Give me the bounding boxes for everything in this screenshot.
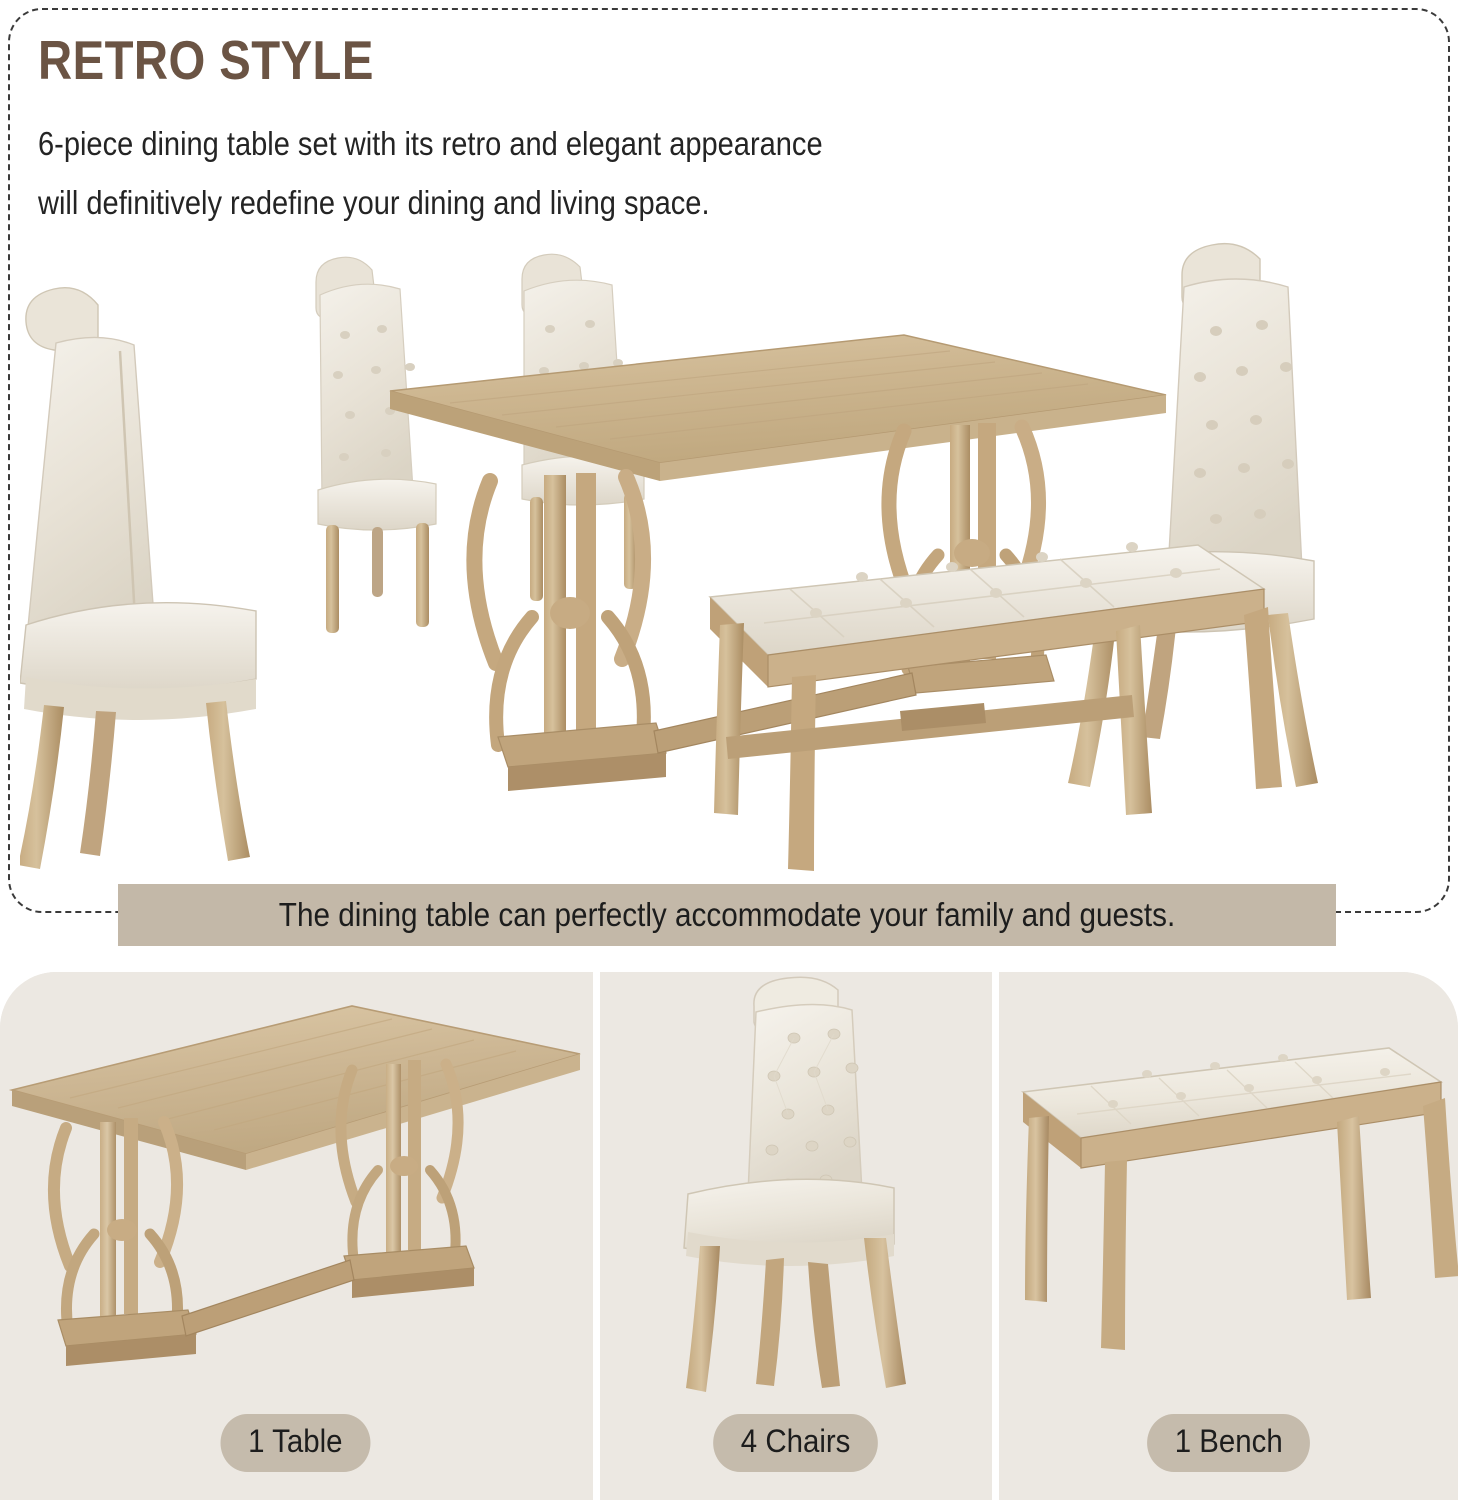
component-panels: 1 Table (0, 972, 1458, 1500)
product-infographic-page: RETRO STYLE 6-piece dining table set wit… (0, 0, 1458, 1500)
dining-table-illustration (0, 972, 593, 1404)
hero-subtitle-line-2: will definitively redefine your dining a… (38, 173, 1094, 232)
chairs-label-wrap: 4 Chairs (600, 1414, 992, 1472)
table-label-wrap: 1 Table (0, 1414, 593, 1472)
hero-subtitle: 6-piece dining table set with its retro … (38, 114, 1094, 232)
chairs-count-label: 4 Chairs (714, 1414, 879, 1472)
page-title: RETRO STYLE (38, 28, 374, 92)
accommodate-banner: The dining table can perfectly accommoda… (118, 884, 1336, 946)
dining-bench-illustration (999, 972, 1458, 1404)
hero-dashed-frame: RETRO STYLE 6-piece dining table set wit… (8, 8, 1450, 913)
table-count-label: 1 Table (221, 1414, 371, 1472)
panel-table[interactable]: 1 Table (0, 972, 593, 1500)
bench-label-wrap: 1 Bench (999, 1414, 1458, 1472)
hero-subtitle-line-1: 6-piece dining table set with its retro … (38, 114, 1094, 173)
panel-bench[interactable]: 1 Bench (999, 972, 1458, 1500)
panel-chairs[interactable]: 4 Chairs (600, 972, 992, 1500)
banner-text: The dining table can perfectly accommoda… (279, 896, 1175, 934)
dining-set-photo (20, 225, 1440, 900)
bench-count-label: 1 Bench (1147, 1414, 1310, 1472)
dining-chair-illustration (600, 972, 992, 1404)
